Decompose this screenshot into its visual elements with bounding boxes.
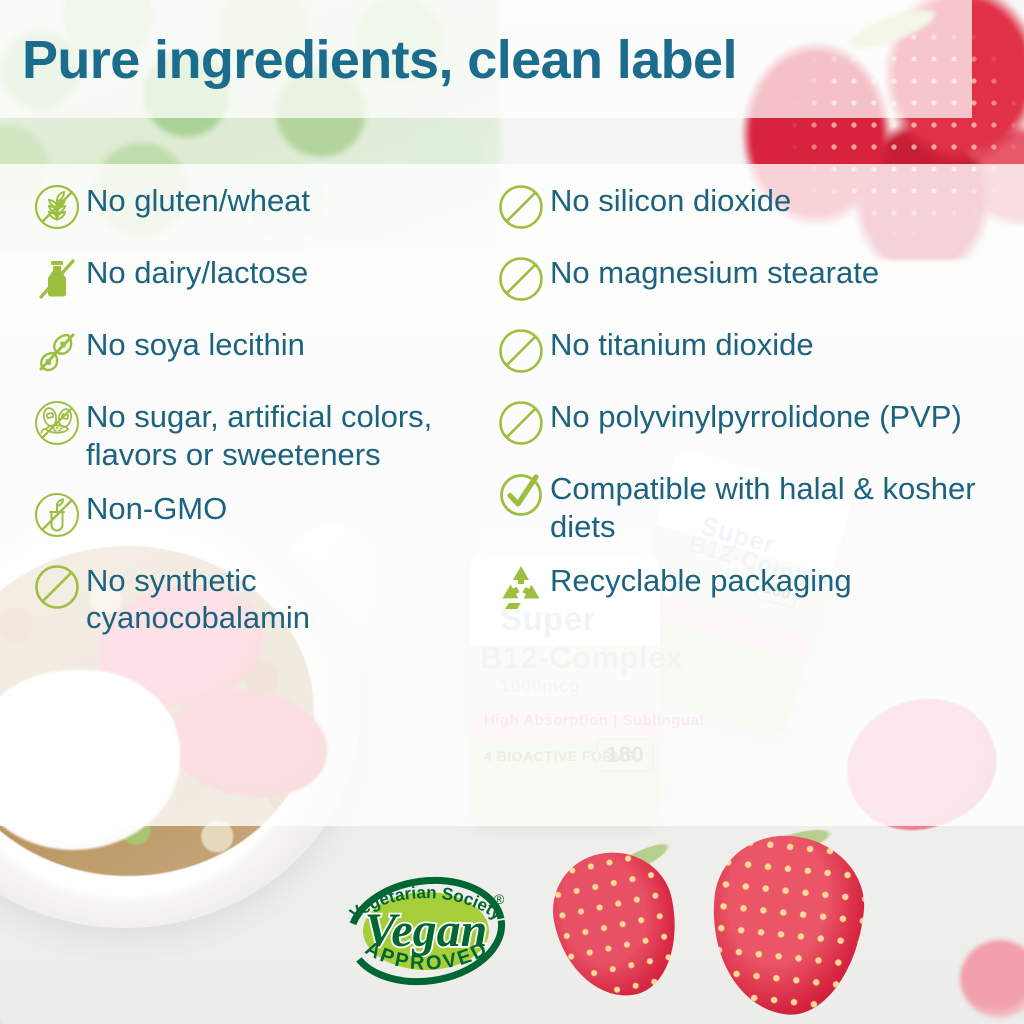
list-item-label: No silicon dioxide (550, 180, 791, 220)
no-gluten-wheat-icon (28, 180, 86, 238)
list-item-label: Recyclable packaging (550, 560, 852, 600)
list-item: Compatible with halal & kosher diets (492, 468, 1020, 546)
list-item: No sugar, artificial colors, flavors or … (28, 396, 480, 474)
list-item: No polyvinylpyrrolidone (PVP) (492, 396, 1020, 454)
benefits-list-right: No silicon dioxide No magnesium stearate… (492, 180, 1020, 632)
list-item-label: No polyvinylpyrrolidone (PVP) (550, 396, 962, 436)
non-gmo-icon (28, 488, 86, 546)
no-soya-lecithin-icon (28, 324, 86, 382)
prohibited-icon (492, 324, 550, 382)
list-item: No synthetic cyanocobalamin (28, 560, 480, 638)
recycle-icon (492, 560, 550, 618)
check-circle-icon (492, 468, 550, 526)
page-title: Pure ingredients, clean label (22, 33, 737, 87)
list-item: No silicon dioxide (492, 180, 1020, 238)
list-item-label: No sugar, artificial colors, flavors or … (86, 396, 480, 474)
no-sugar-icon (28, 396, 86, 454)
list-item-label: No gluten/wheat (86, 180, 310, 220)
prohibited-icon (28, 560, 86, 618)
list-item-label: No magnesium stearate (550, 252, 879, 292)
vegan-logo-registered-mark: ® (494, 891, 505, 907)
list-item-label: No soya lecithin (86, 324, 305, 364)
no-dairy-lactose-icon (28, 252, 86, 310)
list-item-label: Non-GMO (86, 488, 227, 528)
list-item: Non-GMO (28, 488, 480, 546)
list-item: No dairy/lactose (28, 252, 480, 310)
list-item: No gluten/wheat (28, 180, 480, 238)
list-item: Recyclable packaging (492, 560, 1020, 618)
list-item-label: No synthetic cyanocobalamin (86, 560, 480, 638)
benefits-list-left: No gluten/wheat No dairy/lactose (28, 180, 480, 651)
prohibited-icon (492, 252, 550, 310)
prohibited-icon (492, 180, 550, 238)
list-item-label: No dairy/lactose (86, 252, 308, 292)
list-item: No titanium dioxide (492, 324, 1020, 382)
list-item-label: No titanium dioxide (550, 324, 814, 364)
vegetarian-society-vegan-approved-logo: Vegetarian Society Vegan ® APPROVED (318, 864, 534, 998)
promo-graphic: Super B12-Complex 180 Super B12-Complex … (0, 0, 1024, 1024)
list-item-label: Compatible with halal & kosher diets (550, 468, 1020, 546)
list-item: No soya lecithin (28, 324, 480, 382)
prohibited-icon (492, 396, 550, 454)
list-item: No magnesium stearate (492, 252, 1020, 310)
